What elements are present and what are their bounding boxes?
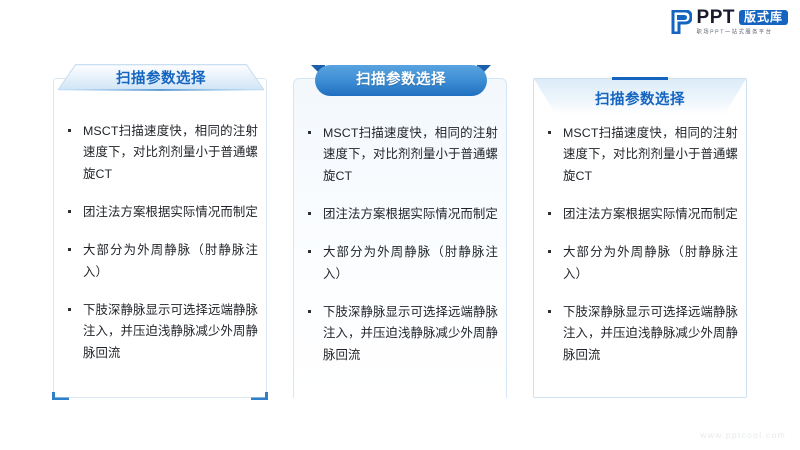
list-item: 大部分为外周静脉（肘静脉注入） [62, 240, 258, 283]
bullet-dot-icon [308, 212, 311, 215]
list-item: 下肢深静脉显示可选择远端静脉注入，并压迫浅静脉减少外周静脉回流 [542, 302, 738, 366]
brand-logo: PPT 版式库 职场PPT一站式服务平台 [670, 8, 788, 35]
bullet-dot-icon [548, 310, 551, 313]
bullet-dot-icon [548, 131, 551, 134]
bullet-dot-icon [68, 248, 71, 251]
bullet-dot-icon [68, 308, 71, 311]
list-item: 大部分为外周静脉（肘静脉注入） [542, 242, 738, 285]
card-scan-parameters-1[interactable]: 扫描参数选择 MSCT扫描速度快，相同的注射速度下，对比剂剂量小于普通螺旋CT … [53, 62, 267, 398]
card-scan-parameters-3[interactable]: 扫描参数选择 MSCT扫描速度快，相同的注射速度下，对比剂剂量小于普通螺旋CT … [533, 62, 747, 398]
list-item-text: 大部分为外周静脉（肘静脉注入） [563, 245, 738, 280]
card-1-title: 扫描参数选择 [58, 65, 264, 93]
list-item: 大部分为外周静脉（肘静脉注入） [302, 242, 498, 285]
card-3-title: 扫描参数选择 [534, 85, 746, 115]
list-item: 下肢深静脉显示可选择远端静脉注入，并压迫浅静脉减少外周静脉回流 [62, 300, 258, 364]
card-2-title: 扫描参数选择 [297, 65, 505, 96]
bullet-dot-icon [548, 212, 551, 215]
list-item: 下肢深静脉显示可选择远端静脉注入，并压迫浅静脉减少外周静脉回流 [302, 302, 498, 366]
list-item-text: 团注法方案根据实际情况而制定 [323, 207, 498, 221]
list-item: 团注法方案根据实际情况而制定 [542, 204, 738, 225]
list-item: MSCT扫描速度快，相同的注射速度下，对比剂剂量小于普通螺旋CT [542, 123, 738, 187]
bullet-dot-icon [308, 131, 311, 134]
list-item-text: 下肢深静脉显示可选择远端静脉注入，并压迫浅静脉减少外周静脉回流 [563, 305, 738, 362]
list-item: MSCT扫描速度快，相同的注射速度下，对比剂剂量小于普通螺旋CT [302, 123, 498, 187]
bullet-dot-icon [548, 250, 551, 253]
card-2-bullet-list: MSCT扫描速度快，相同的注射速度下，对比剂剂量小于普通螺旋CT 团注法方案根据… [302, 123, 498, 366]
brand-tagline: 职场PPT一站式服务平台 [697, 30, 773, 36]
corner-accent-bottom-right-icon [251, 392, 268, 400]
bullet-dot-icon [308, 310, 311, 313]
card-scan-parameters-2[interactable]: 扫描参数选择 MSCT扫描速度快，相同的注射速度下，对比剂剂量小于普通螺旋CT … [293, 62, 507, 398]
card-1-bullet-list: MSCT扫描速度快，相同的注射速度下，对比剂剂量小于普通螺旋CT 团注法方案根据… [62, 121, 258, 364]
brand-badge: 版式库 [739, 10, 788, 25]
card-body: 扫描参数选择 MSCT扫描速度快，相同的注射速度下，对比剂剂量小于普通螺旋CT … [293, 78, 507, 398]
list-item: MSCT扫描速度快，相同的注射速度下，对比剂剂量小于普通螺旋CT [62, 121, 258, 185]
list-item-text: MSCT扫描速度快，相同的注射速度下，对比剂剂量小于普通螺旋CT [563, 126, 738, 183]
card-body: 扫描参数选择 MSCT扫描速度快，相同的注射速度下，对比剂剂量小于普通螺旋CT … [53, 78, 267, 398]
list-item-text: MSCT扫描速度快，相同的注射速度下，对比剂剂量小于普通螺旋CT [323, 126, 498, 183]
bullet-dot-icon [308, 250, 311, 253]
card-3-accent-bar [612, 77, 668, 80]
bullet-dot-icon [68, 129, 71, 132]
list-item-text: 大部分为外周静脉（肘静脉注入） [83, 243, 258, 278]
list-item-text: 大部分为外周静脉（肘静脉注入） [323, 245, 498, 280]
card-row: 扫描参数选择 MSCT扫描速度快，相同的注射速度下，对比剂剂量小于普通螺旋CT … [0, 62, 800, 398]
list-item: 团注法方案根据实际情况而制定 [302, 204, 498, 225]
ppt-logo-p-mark-icon [670, 10, 692, 34]
brand-name: PPT [697, 8, 735, 27]
card-3-bullet-list: MSCT扫描速度快，相同的注射速度下，对比剂剂量小于普通螺旋CT 团注法方案根据… [542, 123, 738, 366]
list-item-text: 下肢深静脉显示可选择远端静脉注入，并压迫浅静脉减少外周静脉回流 [323, 305, 498, 362]
list-item-text: 下肢深静脉显示可选择远端静脉注入，并压迫浅静脉减少外周静脉回流 [83, 303, 258, 360]
list-item-text: 团注法方案根据实际情况而制定 [563, 207, 738, 221]
brand-text: PPT 版式库 职场PPT一站式服务平台 [697, 8, 788, 35]
watermark: www.pptcool.com [700, 430, 786, 440]
list-item: 团注法方案根据实际情况而制定 [62, 202, 258, 223]
list-item-text: MSCT扫描速度快，相同的注射速度下，对比剂剂量小于普通螺旋CT [83, 124, 258, 181]
list-item-text: 团注法方案根据实际情况而制定 [83, 205, 258, 219]
corner-accent-bottom-left-icon [52, 392, 69, 400]
card-body: 扫描参数选择 MSCT扫描速度快，相同的注射速度下，对比剂剂量小于普通螺旋CT … [533, 78, 747, 398]
bullet-dot-icon [68, 210, 71, 213]
